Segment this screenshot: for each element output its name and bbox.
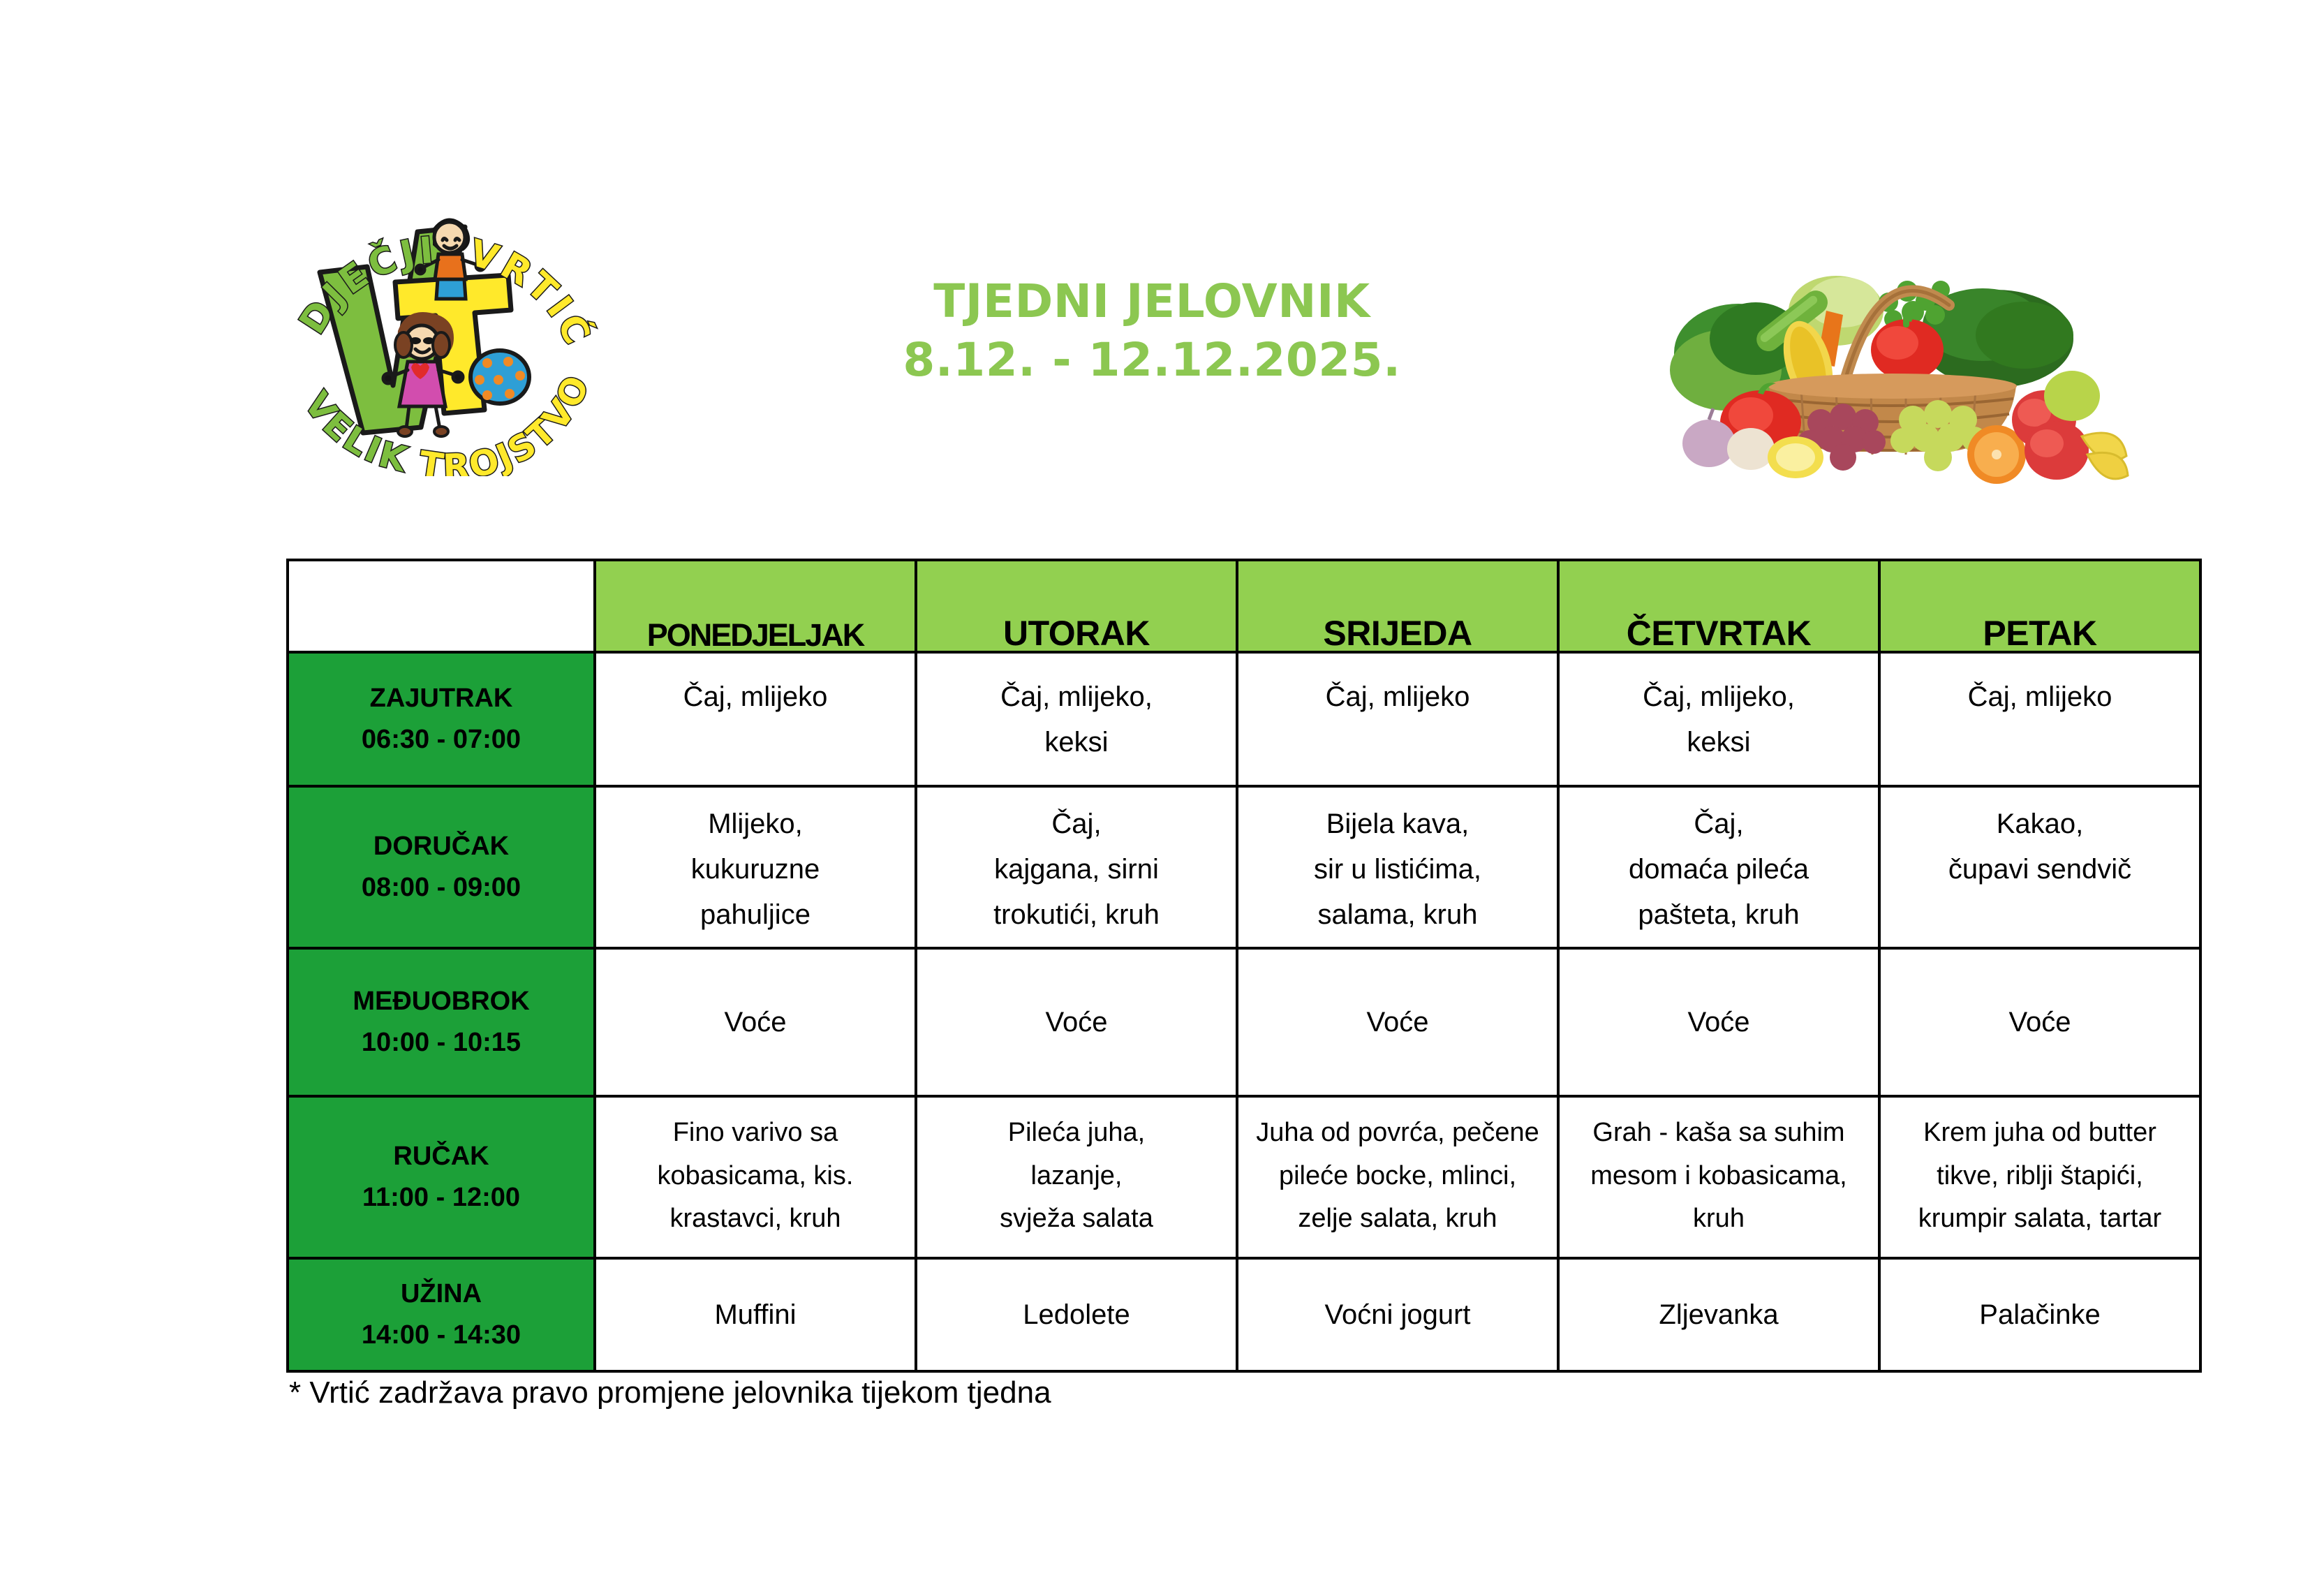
menu-line: Voće [596, 1000, 915, 1045]
table-row: ZAJUTRAK 06:30 - 07:00 Čaj, mlijeko Čaj,… [288, 652, 2200, 786]
poster-header: DJEČJI VRTIĆ VELIKO TROJSTVO TJEDNI JELO… [0, 0, 2324, 517]
menu-line: Palačinke [1881, 1292, 2199, 1338]
menu-line: kukuruzne [596, 847, 915, 892]
weekly-menu-table: PONEDJELJAK UTORAK SRIJEDA ČETVRTAK PETA… [286, 559, 2202, 1373]
menu-line: Voće [917, 1000, 1236, 1045]
menu-cell-zajutrak-petak: Čaj, mlijeko [1879, 652, 2200, 786]
menu-cell-rucak-cetvrtak: Grah - kaša sa suhimmesom i kobasicama,k… [1558, 1096, 1879, 1258]
menu-line: Bijela kava, [1238, 802, 1557, 847]
menu-cell-zajutrak-srijeda: Čaj, mlijeko [1237, 652, 1558, 786]
menu-line: pašteta, kruh [1560, 892, 1878, 938]
meal-label-uzina: UŽINA 14:00 - 14:30 [288, 1258, 595, 1371]
menu-line: Čaj, mlijeko [596, 674, 915, 720]
corner-cell [288, 560, 595, 652]
menu-cell-meduobrok-srijeda: Voće [1237, 948, 1558, 1096]
meal-name: ZAJUTRAK [289, 678, 593, 719]
menu-cell-uzina-utorak: Ledolete [916, 1258, 1237, 1371]
meal-time: 10:00 - 10:15 [289, 1022, 593, 1063]
table-row: RUČAK 11:00 - 12:00 Fino varivo sakobasi… [288, 1096, 2200, 1258]
menu-line: Voćni jogurt [1238, 1292, 1557, 1338]
menu-line: krastavci, kruh [596, 1197, 915, 1241]
menu-line: Muffini [596, 1292, 915, 1338]
fruit-vegetable-basket-photo [1634, 213, 2129, 485]
menu-line: Fino varivo sa [596, 1112, 915, 1155]
menu-cell-uzina-cetvrtak: Zljevanka [1558, 1258, 1879, 1371]
menu-cell-uzina-ponedjeljak: Muffini [595, 1258, 916, 1371]
meal-name: RUČAK [289, 1136, 593, 1177]
menu-line: čupavi sendvič [1881, 847, 2199, 892]
kindergarten-logo-icon: DJEČJI VRTIĆ VELIKO TROJSTVO [278, 155, 606, 476]
menu-line: kruh [1560, 1197, 1878, 1241]
menu-cell-dorucak-petak: Kakao,čupavi sendvič [1879, 786, 2200, 948]
table-row: DORUČAK 08:00 - 09:00 Mlijeko,kukuruznep… [288, 786, 2200, 948]
menu-cell-zajutrak-ponedjeljak: Čaj, mlijeko [595, 652, 916, 786]
meal-name: DORUČAK [289, 826, 593, 867]
meal-label-meduobrok: MEĐUOBROK 10:00 - 10:15 [288, 948, 595, 1096]
menu-line: Voće [1560, 1000, 1878, 1045]
menu-line: lazanje, [917, 1155, 1236, 1198]
menu-poster: DJEČJI VRTIĆ VELIKO TROJSTVO TJEDNI JELO… [0, 0, 2324, 1594]
day-header-utorak: UTORAK [916, 560, 1237, 652]
menu-line: keksi [917, 720, 1236, 765]
menu-cell-dorucak-cetvrtak: Čaj,domaća pilećapašteta, kruh [1558, 786, 1879, 948]
menu-line: Voće [1881, 1000, 2199, 1045]
menu-cell-rucak-ponedjeljak: Fino varivo sakobasicama, kis.krastavci,… [595, 1096, 916, 1258]
menu-line: mesom i kobasicama, [1560, 1155, 1878, 1198]
title-line-1: TJEDNI JELOVNIK [859, 272, 1445, 331]
page-title: TJEDNI JELOVNIK 8.12. - 12.12.2025. [859, 272, 1445, 390]
meal-time: 11:00 - 12:00 [289, 1177, 593, 1218]
menu-line: Čaj, mlijeko, [917, 674, 1236, 720]
day-header-cetvrtak: ČETVRTAK [1558, 560, 1879, 652]
menu-cell-dorucak-utorak: Čaj,kajgana, sirnitrokutići, kruh [916, 786, 1237, 948]
menu-cell-dorucak-srijeda: Bijela kava,sir u listićima,salama, kruh [1237, 786, 1558, 948]
menu-cell-rucak-petak: Krem juha od buttertikve, riblji štapići… [1879, 1096, 2200, 1258]
menu-line: Juha od povrća, pečene [1238, 1112, 1557, 1155]
menu-line: kobasicama, kis. [596, 1155, 915, 1198]
menu-cell-meduobrok-petak: Voće [1879, 948, 2200, 1096]
menu-cell-dorucak-ponedjeljak: Mlijeko,kukuruznepahuljice [595, 786, 916, 948]
menu-line: kajgana, sirni [917, 847, 1236, 892]
table-row: MEĐUOBROK 10:00 - 10:15 Voće Voće Voće V… [288, 948, 2200, 1096]
menu-line: krumpir salata, tartar [1881, 1197, 2199, 1241]
meal-time: 14:00 - 14:30 [289, 1315, 593, 1356]
title-line-2: 8.12. - 12.12.2025. [859, 331, 1445, 390]
meal-label-dorucak: DORUČAK 08:00 - 09:00 [288, 786, 595, 948]
menu-line: svježa salata [917, 1197, 1236, 1241]
menu-cell-rucak-utorak: Pileća juha,lazanje,svježa salata [916, 1096, 1237, 1258]
table-header-row: PONEDJELJAK UTORAK SRIJEDA ČETVRTAK PETA… [288, 560, 2200, 652]
menu-line: Čaj, mlijeko [1238, 674, 1557, 720]
menu-line: domaća pileća [1560, 847, 1878, 892]
menu-cell-meduobrok-utorak: Voće [916, 948, 1237, 1096]
menu-cell-uzina-srijeda: Voćni jogurt [1237, 1258, 1558, 1371]
menu-line: salama, kruh [1238, 892, 1557, 938]
menu-cell-zajutrak-cetvrtak: Čaj, mlijeko,keksi [1558, 652, 1879, 786]
menu-footnote: * Vrtić zadržava pravo promjene jelovnik… [289, 1375, 1051, 1410]
menu-line: Pileća juha, [917, 1112, 1236, 1155]
table-row: UŽINA 14:00 - 14:30 Muffini Ledolete Voć… [288, 1258, 2200, 1371]
menu-line: zelje salata, kruh [1238, 1197, 1557, 1241]
menu-cell-rucak-srijeda: Juha od povrća, pečenepileće bocke, mlin… [1237, 1096, 1558, 1258]
day-header-petak: PETAK [1879, 560, 2200, 652]
menu-line: Čaj, mlijeko [1881, 674, 2199, 720]
menu-line: sir u listićima, [1238, 847, 1557, 892]
menu-line: Ledolete [917, 1292, 1236, 1338]
menu-line: Čaj, [917, 802, 1236, 847]
menu-line: pileće bocke, mlinci, [1238, 1155, 1557, 1198]
menu-cell-meduobrok-cetvrtak: Voće [1558, 948, 1879, 1096]
menu-line: Čaj, mlijeko, [1560, 674, 1878, 720]
menu-line: Krem juha od butter [1881, 1112, 2199, 1155]
meal-time: 08:00 - 09:00 [289, 867, 593, 908]
menu-line: Kakao, [1881, 802, 2199, 847]
meal-time: 06:30 - 07:00 [289, 719, 593, 760]
meal-label-zajutrak: ZAJUTRAK 06:30 - 07:00 [288, 652, 595, 786]
menu-cell-zajutrak-utorak: Čaj, mlijeko,keksi [916, 652, 1237, 786]
menu-cell-uzina-petak: Palačinke [1879, 1258, 2200, 1371]
menu-line: Zljevanka [1560, 1292, 1878, 1338]
day-header-srijeda: SRIJEDA [1237, 560, 1558, 652]
meal-name: UŽINA [289, 1274, 593, 1315]
menu-line: keksi [1560, 720, 1878, 765]
menu-line: pahuljice [596, 892, 915, 938]
menu-line: tikve, riblji štapići, [1881, 1155, 2199, 1198]
menu-line: Grah - kaša sa suhim [1560, 1112, 1878, 1155]
menu-line: Čaj, [1560, 802, 1878, 847]
menu-line: Voće [1238, 1000, 1557, 1045]
menu-line: trokutići, kruh [917, 892, 1236, 938]
menu-line: Mlijeko, [596, 802, 915, 847]
day-header-ponedjeljak: PONEDJELJAK [595, 560, 916, 652]
meal-name: MEĐUOBROK [289, 981, 593, 1022]
menu-cell-meduobrok-ponedjeljak: Voće [595, 948, 916, 1096]
meal-label-rucak: RUČAK 11:00 - 12:00 [288, 1096, 595, 1258]
